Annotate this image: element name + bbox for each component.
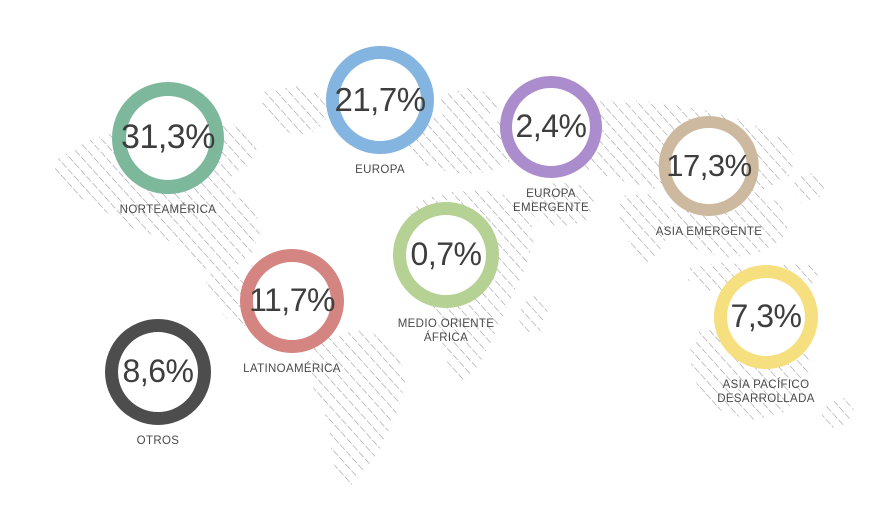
donut-marker-latinoamerica[interactable]: 11,7%LATINOAMÉRICA [240,249,344,376]
donut-marker-europa[interactable]: 21,7%EUROPA [326,46,434,177]
donut-ring-asia-pacifico-desarrollada: 7,3% [714,265,818,369]
donut-marker-europa-emergente[interactable]: 2,4%EUROPA EMERGENTE [500,76,602,215]
donut-label-latinoamerica: LATINOAMÉRICA [243,362,341,376]
donut-value-norteamerica: 31,3% [121,120,215,154]
donut-ring-medio-oriente-africa: 0,7% [393,202,499,308]
infographic-canvas: 31,3%NORTEAMÉRICA21,7%EUROPA2,4%EUROPA E… [0,0,871,514]
donut-label-otros: OTROS [137,434,180,448]
donut-marker-asia-pacifico-desarrollada[interactable]: 7,3%ASIA PACÍFICO DESARROLLADA [714,265,818,406]
donut-value-europa-emergente: 2,4% [516,110,587,142]
donut-value-asia-pacifico-desarrollada: 7,3% [731,300,802,332]
donut-ring-europa: 21,7% [326,46,434,154]
donut-value-latinoamerica: 11,7% [249,284,335,316]
donut-marker-otros[interactable]: 8,6%OTROS [105,319,211,448]
donut-value-asia-emergente: 17,3% [666,150,751,181]
donut-ring-otros: 8,6% [105,319,211,425]
donut-ring-europa-emergente: 2,4% [500,76,602,178]
donut-label-medio-oriente-africa: MEDIO ORIENTE ÁFRICA [398,317,495,345]
donut-label-europa-emergente: EUROPA EMERGENTE [513,187,589,215]
donut-label-asia-emergente: ASIA EMERGENTE [656,225,763,239]
donut-label-norteamerica: NORTEAMÉRICA [120,203,217,217]
donut-ring-norteamerica: 31,3% [112,82,224,194]
donut-marker-norteamerica[interactable]: 31,3%NORTEAMÉRICA [112,82,224,217]
donut-value-otros: 8,6% [123,355,194,387]
donut-ring-latinoamerica: 11,7% [240,249,344,353]
donut-marker-medio-oriente-africa[interactable]: 0,7%MEDIO ORIENTE ÁFRICA [393,202,499,345]
donut-label-asia-pacifico-desarrollada: ASIA PACÍFICO DESARROLLADA [717,378,815,406]
donut-value-medio-oriente-africa: 0,7% [411,238,482,270]
donut-label-europa: EUROPA [355,163,405,177]
donut-marker-asia-emergente[interactable]: 17,3%ASIA EMERGENTE [656,116,763,239]
donut-ring-asia-emergente: 17,3% [659,116,759,216]
donut-value-europa: 21,7% [334,83,425,116]
